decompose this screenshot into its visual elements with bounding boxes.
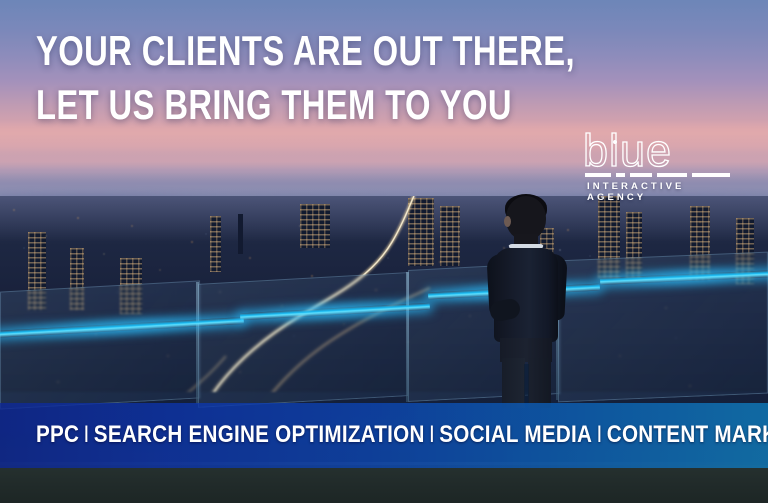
separator: I — [425, 421, 440, 448]
ad-banner: YOUR CLIENTS ARE OUT THERE, LET US BRING… — [0, 0, 768, 503]
service-content: CONTENT MARKETING — [607, 421, 768, 448]
service-ppc: PPC — [36, 421, 79, 448]
suit-jacket — [494, 248, 558, 342]
ear — [504, 216, 511, 227]
leg-left — [502, 358, 525, 408]
service-social: SOCIAL MEDIA — [439, 421, 592, 448]
logo-tagline: INTERACTIVE AGENCY — [587, 181, 733, 203]
services-banner-text: PPCISEARCH ENGINE OPTIMIZATIONISOCIAL ME… — [36, 421, 768, 448]
rail-post — [196, 282, 199, 404]
glass-panel — [0, 280, 200, 409]
glass-panel — [198, 272, 408, 408]
logo-dot-icon — [613, 140, 617, 144]
separator: I — [592, 421, 607, 448]
service-seo: SEARCH ENGINE OPTIMIZATION — [94, 421, 425, 448]
headline: YOUR CLIENTS ARE OUT THERE, LET US BRING… — [36, 24, 473, 132]
deck-floor — [0, 465, 768, 503]
headline-line-1: YOUR CLIENTS ARE OUT THERE, — [36, 27, 575, 74]
logo-wordmark: blue — [583, 128, 733, 173]
businessman-figure — [478, 196, 574, 406]
headline-line-2: LET US BRING THEM TO YOU — [36, 78, 473, 132]
separator: I — [79, 421, 94, 448]
rail-post — [406, 272, 409, 402]
logo[interactable]: blue INTERACTIVE AGENCY — [583, 128, 733, 190]
leg-gap — [524, 364, 529, 404]
leg-right — [528, 358, 551, 408]
logo-underline-bars — [585, 173, 731, 178]
